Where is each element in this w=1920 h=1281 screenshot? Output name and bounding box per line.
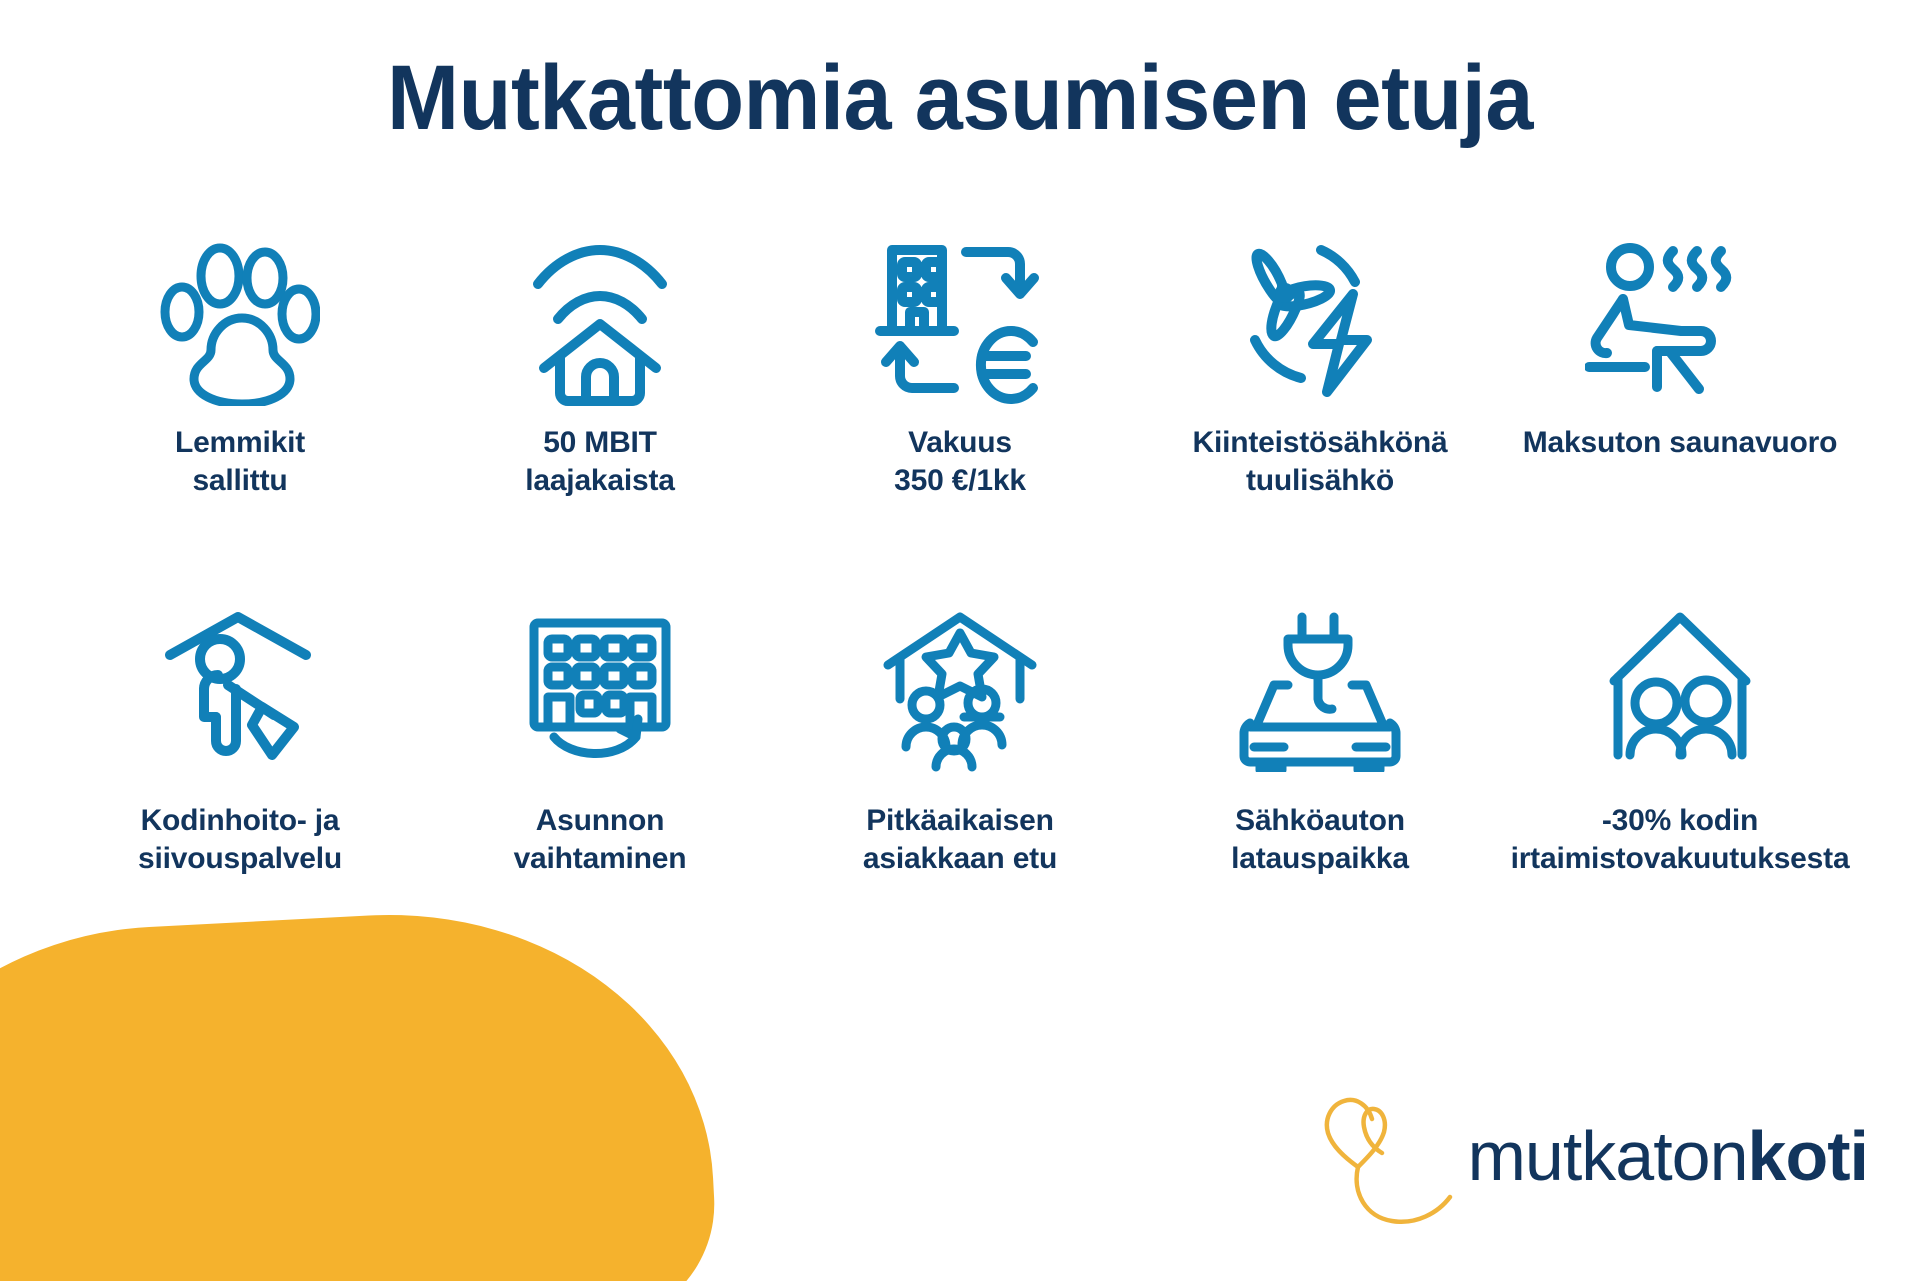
logo-word-light: mutkaton	[1468, 1117, 1748, 1195]
benefit-cell-ev-charging: Sähköauton latauspaikka	[1140, 600, 1500, 878]
wind-turbine-lightning-icon	[1235, 232, 1405, 410]
benefits-row-2: Kodinhoito- ja siivouspalvelu	[60, 600, 1860, 878]
house-two-people-icon	[1598, 600, 1763, 778]
benefit-cell-apartment-swap: Asunnon vaihtaminen	[420, 600, 780, 878]
benefit-label: Kodinhoito- ja siivouspalvelu	[138, 802, 342, 878]
benefit-label: Vakuus 350 €/1kk	[894, 424, 1026, 500]
benefit-label: Sähköauton latauspaikka	[1231, 802, 1409, 878]
benefit-cell-deposit: Vakuus 350 €/1kk	[780, 232, 1140, 500]
benefit-label: Asunnon vaihtaminen	[514, 802, 687, 878]
benefit-cell-home-cleaning: Kodinhoito- ja siivouspalvelu	[60, 600, 420, 878]
sauna-person-steam-icon	[1585, 232, 1775, 410]
cleaning-person-broom-icon	[158, 600, 323, 778]
benefit-label: -30% kodin irtaimistovakuutuksesta	[1511, 802, 1850, 878]
paw-print-icon	[160, 232, 320, 410]
apartment-swap-arrow-icon	[518, 600, 683, 778]
decorative-yellow-blob	[0, 898, 720, 1281]
infographic-page: Mutkattomia asumisen etuja Lemmikit sall…	[0, 0, 1920, 1281]
wifi-house-icon	[520, 232, 680, 410]
electric-car-plug-icon	[1238, 600, 1403, 778]
benefit-cell-broadband: 50 MBIT laajakaista	[420, 232, 780, 500]
benefit-cell-loyalty: Pitkäaikaisen asiakkaan etu	[780, 600, 1140, 878]
benefit-label: Kiinteistösähkönä tuulisähkö	[1193, 424, 1448, 500]
brand-logo: mutkatonkoti	[1314, 1089, 1868, 1229]
benefit-cell-pets-allowed: Lemmikit sallittu	[60, 232, 420, 500]
logo-wordmark: mutkatonkoti	[1468, 1121, 1868, 1191]
page-title: Mutkattomia asumisen etuja	[58, 46, 1863, 150]
benefit-cell-home-insurance: -30% kodin irtaimistovakuutuksesta	[1500, 600, 1860, 878]
benefit-cell-sauna: Maksuton saunavuoro	[1500, 232, 1860, 462]
logo-word-bold: koti	[1748, 1117, 1868, 1195]
benefit-label: 50 MBIT laajakaista	[525, 424, 675, 500]
benefit-label: Lemmikit sallittu	[175, 424, 305, 500]
heart-swirl-icon	[1314, 1089, 1464, 1229]
benefits-row-1: Lemmikit sallittu 50 MBIT laajakaista	[60, 232, 1860, 500]
benefit-cell-wind-electricity: Kiinteistösähkönä tuulisähkö	[1140, 232, 1500, 500]
benefit-label: Pitkäaikaisen asiakkaan etu	[863, 802, 1057, 878]
benefit-label: Maksuton saunavuoro	[1523, 424, 1838, 462]
house-star-family-icon	[878, 600, 1043, 778]
building-euro-exchange-icon	[870, 232, 1050, 410]
